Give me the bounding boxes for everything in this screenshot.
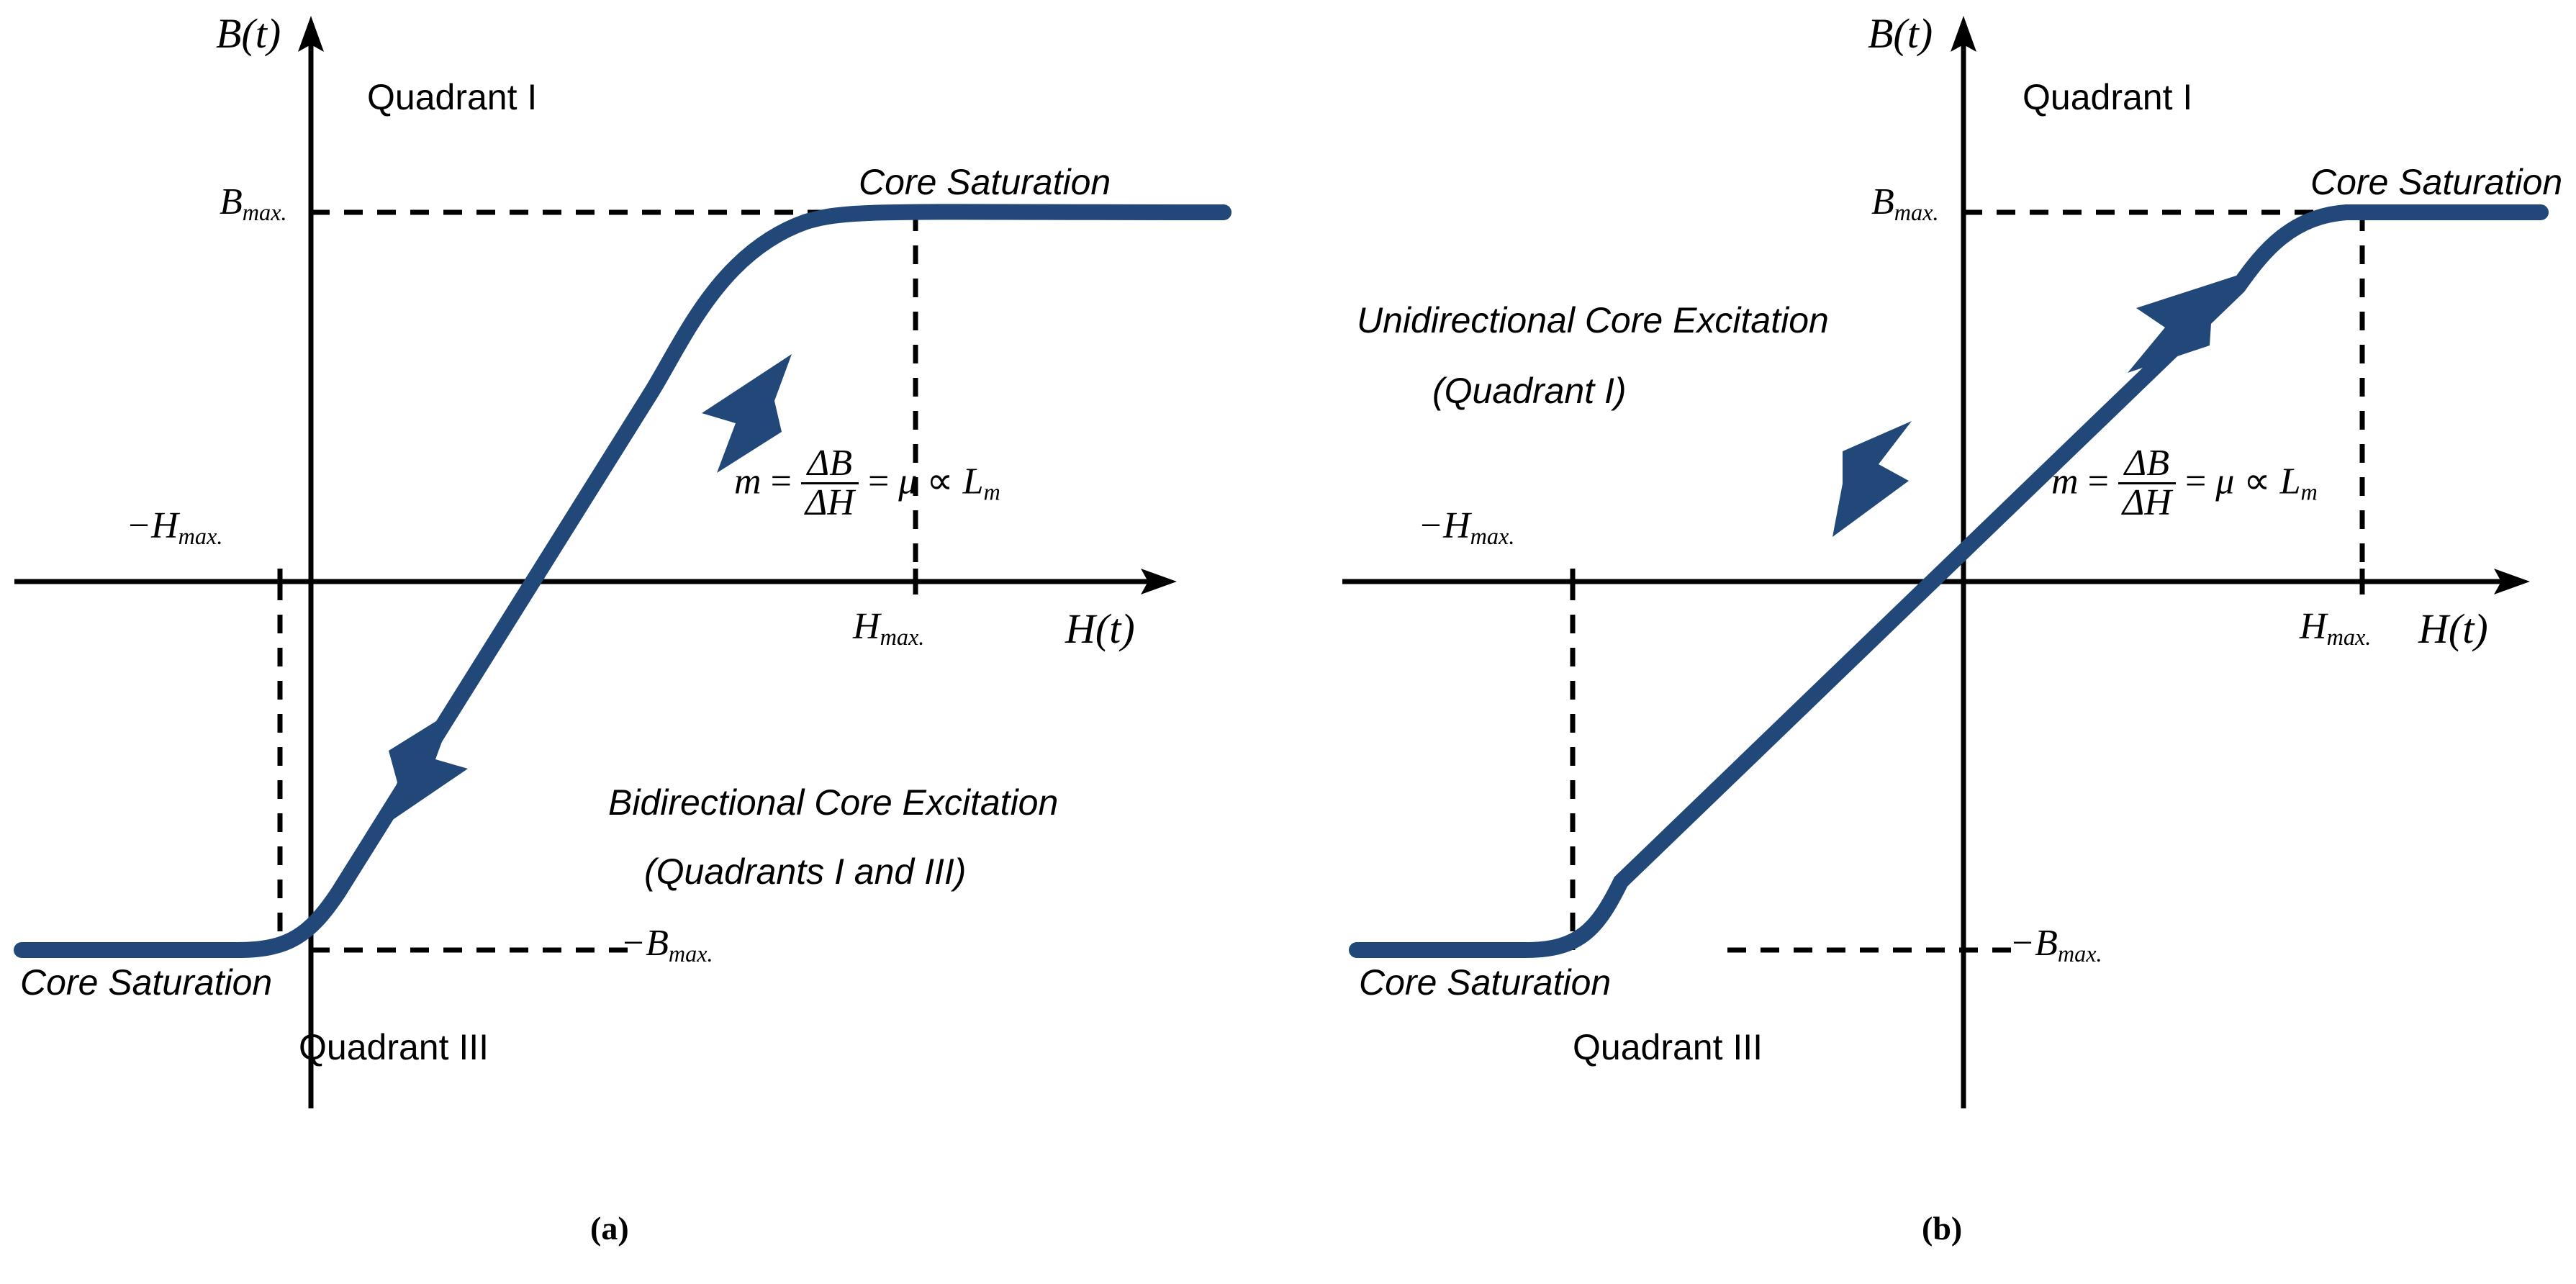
h-max-tick-label: Hmax. (2300, 608, 2371, 648)
x-axis-label: H(t) (1065, 608, 1135, 650)
x-axis-label: H(t) (2418, 608, 2488, 650)
subfigure-caption-a: (a) (590, 1209, 629, 1247)
panel-a-bidirectional: B(t) H(t) Bmax. −Bmax. Hmax. −Hmax. Quad… (0, 0, 1288, 1284)
neg-b-max-tick-label: −Bmax. (2010, 925, 2102, 965)
h-max-tick-label: Hmax. (853, 608, 924, 648)
excitation-caption-line1: Unidirectional Core Excitation (1357, 302, 1829, 338)
excitation-caption-line1: Bidirectional Core Excitation (608, 785, 1058, 820)
slope-equation: m = ΔB ΔH = μ ∝ Lm (734, 446, 1000, 523)
neg-h-max-tick-label: −Hmax. (1418, 507, 1514, 548)
excitation-caption-line2: (Quadrants I and III) (644, 854, 966, 890)
slope-equation: m = ΔB ΔH = μ ∝ Lm (2051, 446, 2318, 523)
neg-h-max-tick-label: −Hmax. (126, 507, 222, 548)
neg-b-max-tick-label: −Bmax. (620, 925, 713, 965)
panel-b-unidirectional: B(t) H(t) Bmax. −Bmax. Hmax. −Hmax. Quad… (1288, 0, 2576, 1284)
x-axis (14, 569, 1177, 594)
curve-arrow-down-icon (378, 710, 468, 830)
y-axis (298, 16, 324, 1108)
quadrant-three-label: Quadrant III (1573, 1029, 1763, 1065)
b-max-tick-label: Bmax. (220, 184, 287, 224)
core-saturation-upper-label: Core Saturation (859, 164, 1111, 200)
b-max-tick-label: Bmax. (1871, 184, 1939, 224)
quadrant-three-label: Quadrant III (299, 1029, 489, 1065)
y-axis-label: B(t) (1868, 13, 1933, 55)
y-axis-label: B(t) (216, 13, 281, 55)
quadrant-one-label: Quadrant I (2023, 79, 2192, 115)
curve-arrow-down-icon (1832, 421, 1912, 537)
core-saturation-lower-label: Core Saturation (20, 964, 272, 1000)
quadrant-one-label: Quadrant I (367, 79, 537, 115)
subfigure-caption-b: (b) (1922, 1209, 1962, 1247)
core-saturation-lower-label: Core Saturation (1359, 964, 1611, 1000)
excitation-caption-line2: (Quadrant I) (1432, 373, 1627, 409)
curve-arrow-up-icon (2128, 275, 2238, 373)
bh-curve-figure: B(t) H(t) Bmax. −Bmax. Hmax. −Hmax. Quad… (0, 0, 2576, 1284)
core-saturation-upper-label: Core Saturation (2310, 164, 2562, 200)
